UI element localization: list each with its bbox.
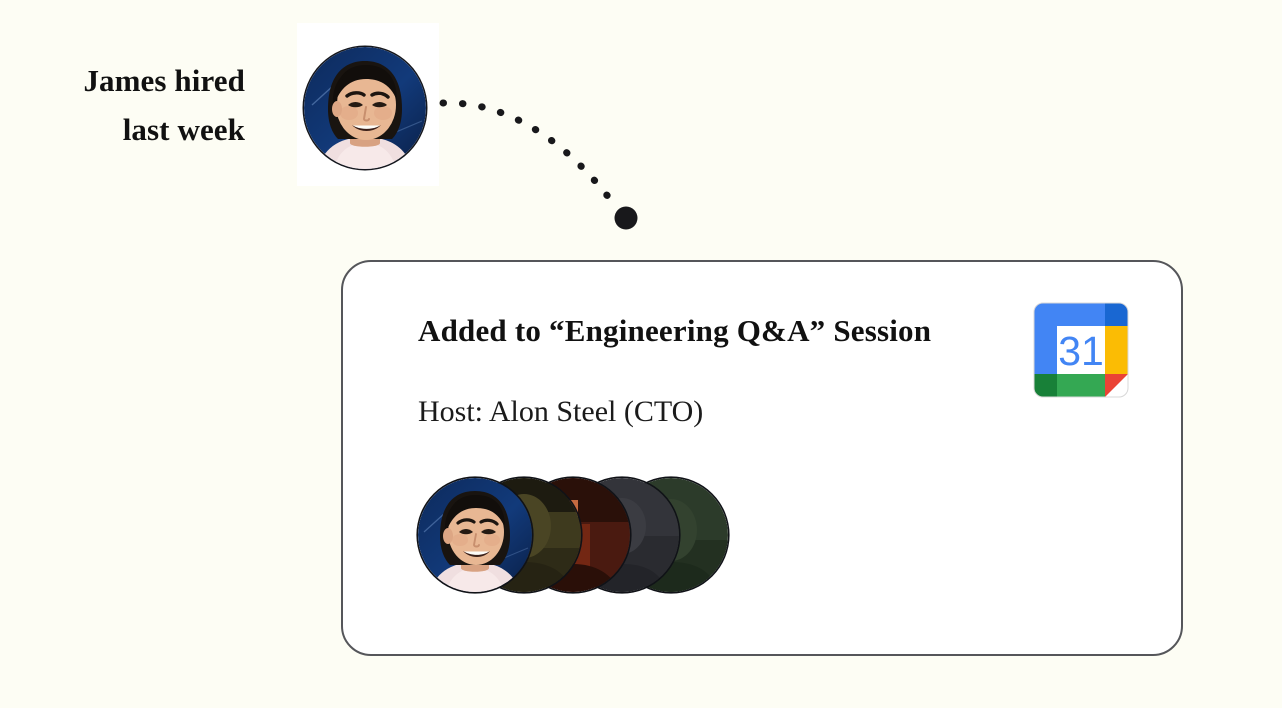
card-title: Added to “Engineering Q&A” Session <box>418 312 931 349</box>
caption-line-2: last week <box>40 105 245 154</box>
google-calendar-icon[interactable]: 31 <box>1031 300 1131 400</box>
calendar-day-number: 31 <box>1058 328 1104 374</box>
attendee-avatar-1[interactable] <box>418 478 532 592</box>
avatar[interactable] <box>304 47 426 169</box>
connector-arrow <box>430 85 650 245</box>
google-calendar-glyph: 31 <box>1031 300 1131 400</box>
attendee-photo-1 <box>418 478 532 592</box>
avatar-photo <box>304 47 426 169</box>
hired-caption: James hired last week <box>40 56 245 154</box>
card-subtitle: Host: Alon Steel (CTO) <box>418 394 703 430</box>
connector-dotted-path <box>443 103 613 203</box>
notification-card[interactable]: Added to “Engineering Q&A” Session Host:… <box>341 260 1183 656</box>
hero-avatar-card <box>297 23 439 186</box>
connector-endpoint-dot <box>615 207 638 230</box>
caption-line-1: James hired <box>40 56 245 105</box>
scene-canvas: James hired last week <box>0 0 1282 708</box>
